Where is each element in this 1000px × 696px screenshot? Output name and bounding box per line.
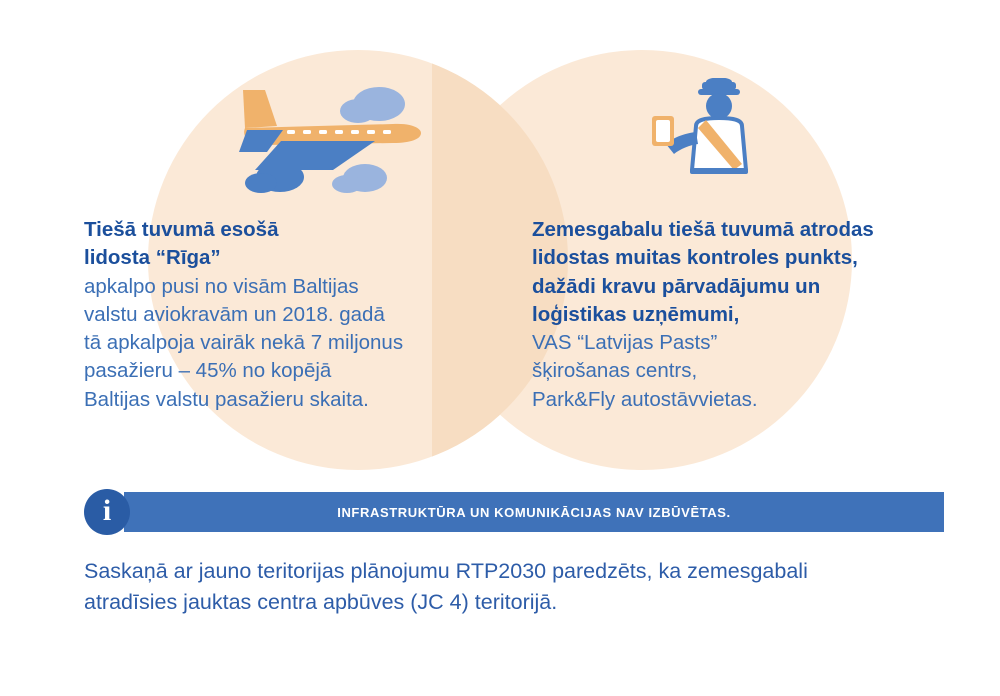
info-banner-text: INFRASTRUKTŪRA UN KOMUNIKĀCIJAS NAV IZBŪ… — [337, 505, 731, 520]
info-banner-band: INFRASTRUKTŪRA UN KOMUNIKĀCIJAS NAV IZBŪ… — [124, 492, 944, 532]
airplane-illustration — [225, 78, 450, 203]
info-icon: i — [84, 489, 130, 535]
right-line-6: šķirošanas centrs, — [532, 357, 952, 385]
left-line-5: tā apkalpoja vairāk nekā 7 miljonus — [84, 329, 484, 357]
info-banner: INFRASTRUKTŪRA UN KOMUNIKĀCIJAS NAV IZBŪ… — [84, 492, 944, 532]
info-icon-glyph: i — [103, 496, 111, 526]
infographic-canvas: Tiešā tuvumā esošā lidosta “Rīga” apkalp… — [0, 0, 1000, 696]
footer-line-2: atradīsies jauktas centra apbūves (JC 4)… — [84, 587, 964, 618]
left-line-1: Tiešā tuvumā esošā — [84, 216, 484, 244]
left-line-4: valstu aviokravām un 2018. gadā — [84, 301, 484, 329]
footer-paragraph: Saskaņā ar jauno teritorijas plānojumu R… — [84, 556, 964, 618]
right-line-5: VAS “Latvijas Pasts” — [532, 329, 952, 357]
left-line-7: Baltijas valstu pasažieru skaita. — [84, 386, 484, 414]
right-line-3: dažādi kravu pārvadājumu un — [532, 273, 952, 301]
right-line-2: lidostas muitas kontroles punkts, — [532, 244, 952, 272]
left-line-3: apkalpo pusi no visām Baltijas — [84, 273, 484, 301]
right-panel-text: Zemesgabalu tiešā tuvumā atrodas lidosta… — [532, 216, 952, 414]
right-line-7: Park&Fly autostāvvietas. — [532, 386, 952, 414]
left-line-6: pasažieru – 45% no kopējā — [84, 357, 484, 385]
left-panel-text: Tiešā tuvumā esošā lidosta “Rīga” apkalp… — [84, 216, 484, 414]
left-line-2: lidosta “Rīga” — [84, 244, 484, 272]
customs-officer-illustration — [640, 78, 790, 203]
right-line-4: loģistikas uzņēmumi, — [532, 301, 952, 329]
right-line-1: Zemesgabalu tiešā tuvumā atrodas — [532, 216, 952, 244]
footer-line-1: Saskaņā ar jauno teritorijas plānojumu R… — [84, 556, 964, 587]
